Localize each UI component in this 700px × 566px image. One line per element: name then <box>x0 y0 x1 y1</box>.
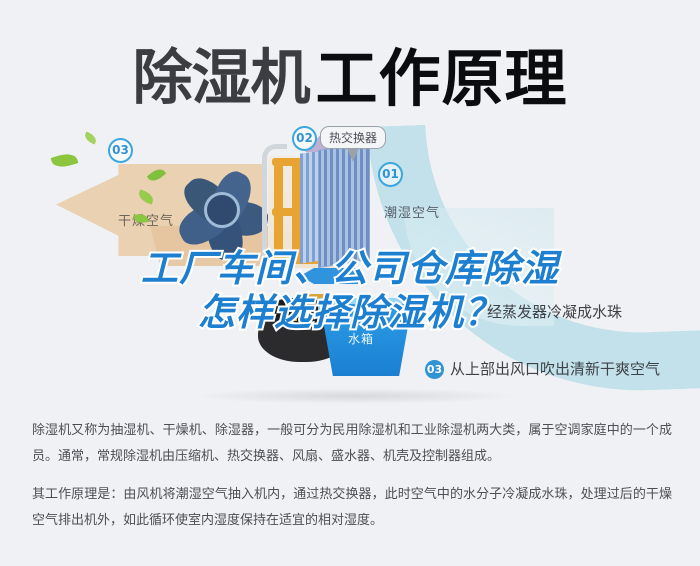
body-paragraph-1: 除湿机又称为抽湿机、干燥机、除湿器，一般可分为民用除湿机和工业除湿机两大类，属于… <box>32 418 672 470</box>
leaf-icon <box>51 150 79 170</box>
caption-text-03: 从上部出风口吹出清新干爽空气 <box>450 358 660 379</box>
water-tank-label: 水箱 <box>348 330 374 347</box>
ground-shadow <box>190 388 520 404</box>
badge-01: 01 <box>378 162 403 187</box>
poster-image: 除湿机工作原理 干燥空气 <box>0 0 700 566</box>
evaporator-fins-icon <box>318 142 370 268</box>
article-body: 除湿机又称为抽湿机、干燥机、除湿器，一般可分为民用除湿机和工业除湿机两大类，属于… <box>32 418 672 546</box>
body-paragraph-2: 其工作原理是：由风机将潮湿空气抽入机内，通过热交换器，此时空气中的水分子冷凝成水… <box>32 482 672 534</box>
title-part-dehumidifier: 除湿机 <box>132 44 309 114</box>
leaf-icon <box>83 131 98 144</box>
title-part-working-principle: 工作原理 <box>315 42 567 115</box>
caption-badge-03: 03 <box>425 360 444 379</box>
caption-text-02: 经蒸发器冷凝成水珠 <box>487 301 622 322</box>
page-title: 除湿机工作原理 <box>0 28 700 118</box>
humid-air-label: 潮湿空气 <box>384 202 440 221</box>
badge-02: 02 <box>292 126 317 151</box>
fan-hub-icon <box>204 192 240 228</box>
heat-exchanger-callout: 热交换器 <box>320 126 386 149</box>
air-inlet-arrow-icon <box>300 268 358 284</box>
badge-03: 03 <box>108 138 133 163</box>
